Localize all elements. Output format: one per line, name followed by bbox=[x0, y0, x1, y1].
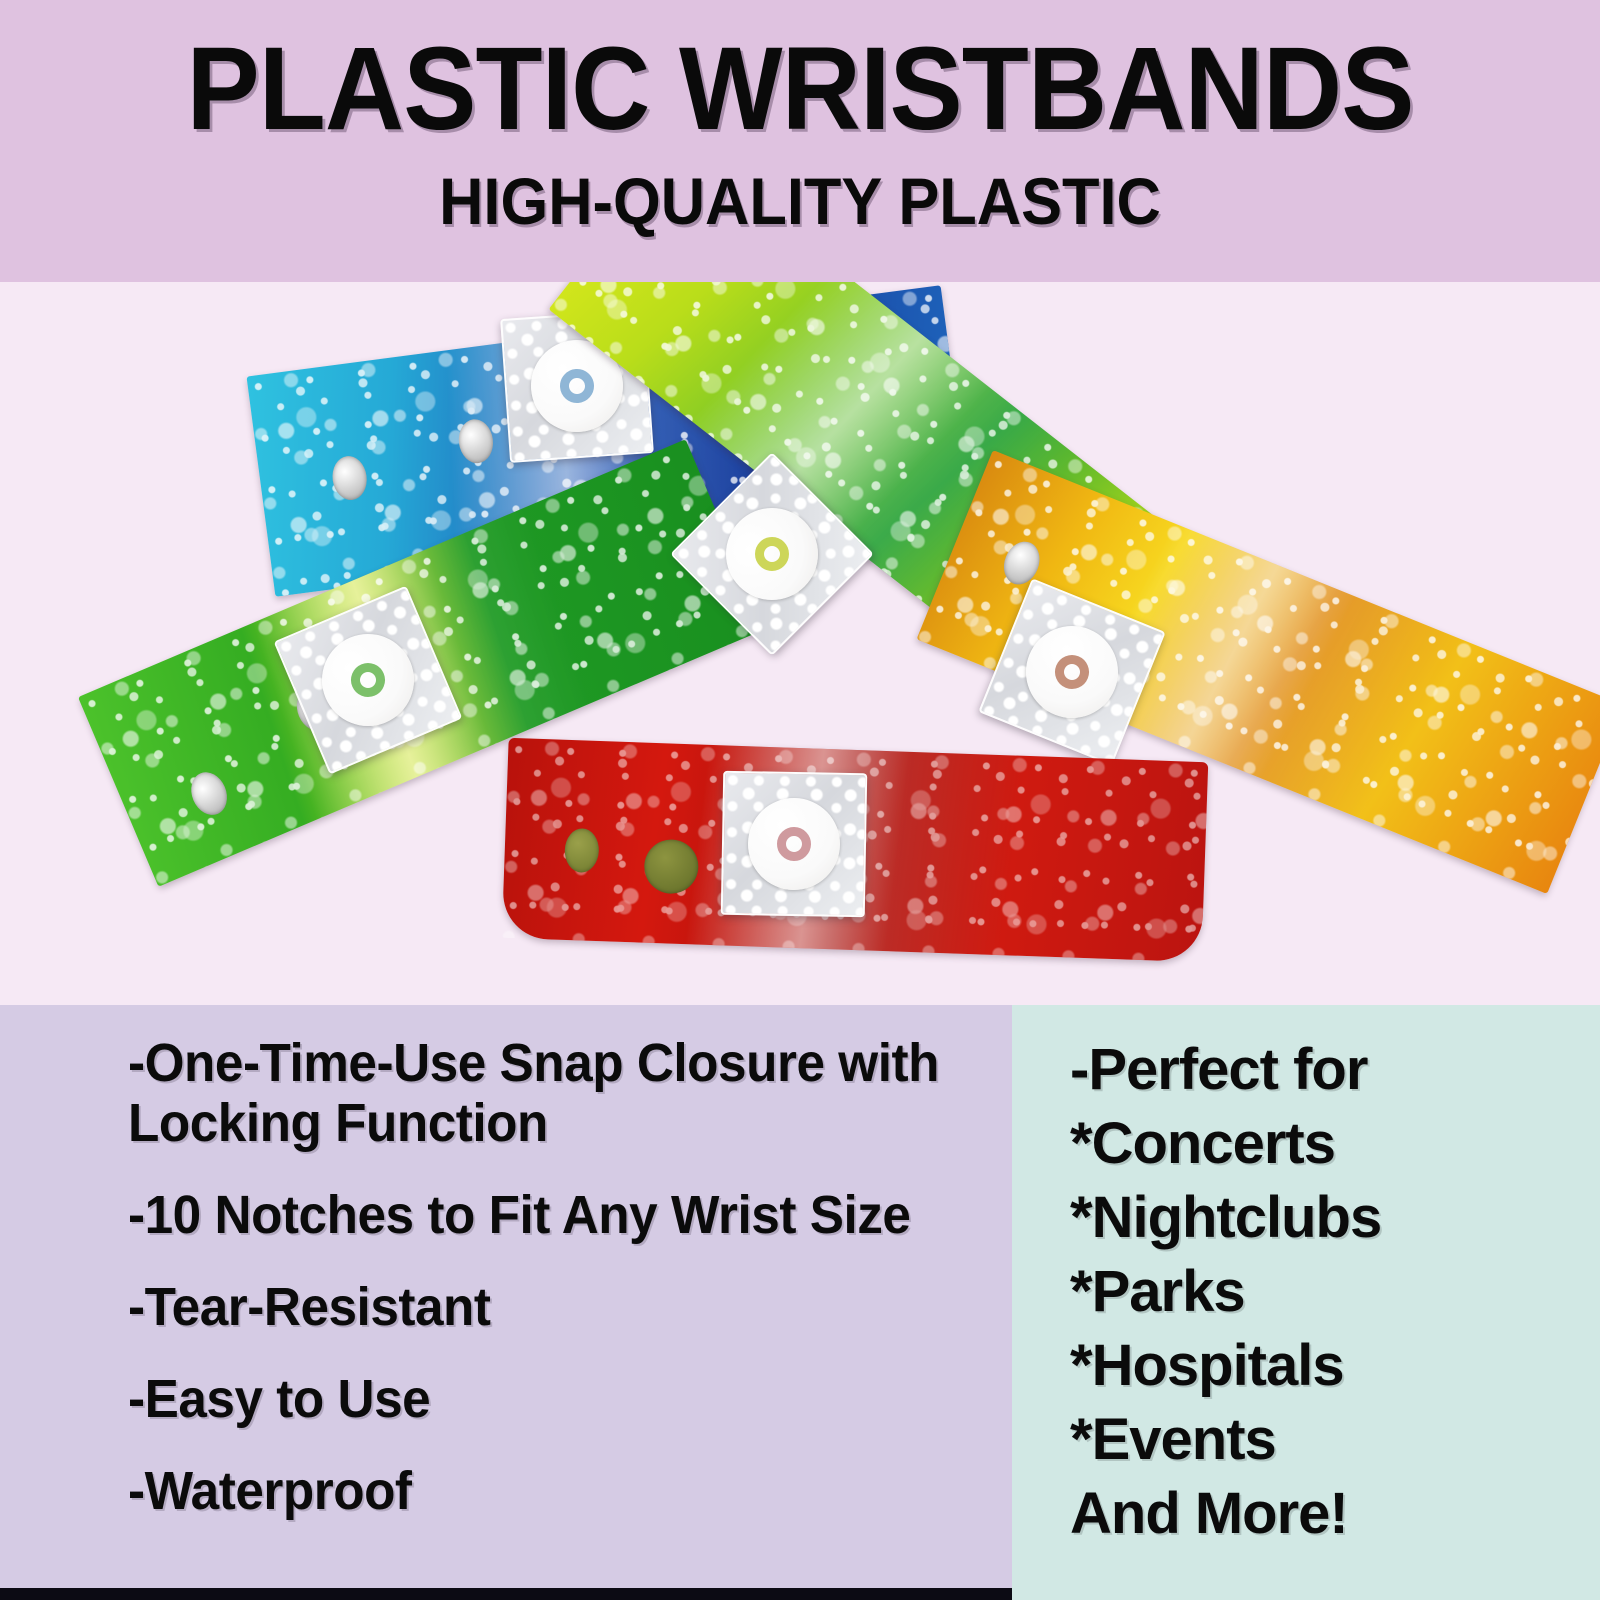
use-item: *Events bbox=[1070, 1403, 1590, 1477]
page-title: PLASTIC WRISTBANDS bbox=[56, 30, 1544, 148]
feature-item: -One-Time-Use Snap Closure with Locking … bbox=[128, 1033, 945, 1153]
use-item: And More! bbox=[1070, 1477, 1590, 1551]
panel-bottom-rule bbox=[0, 1588, 1012, 1600]
use-item: -Perfect for bbox=[1070, 1033, 1590, 1107]
use-item: *Hospitals bbox=[1070, 1329, 1590, 1403]
feature-item: -Waterproof bbox=[128, 1461, 945, 1521]
features-list: -One-Time-Use Snap Closure with Locking … bbox=[128, 1033, 988, 1521]
use-item: *Parks bbox=[1070, 1255, 1590, 1329]
feature-item: -10 Notches to Fit Any Wrist Size bbox=[128, 1185, 945, 1245]
product-photo bbox=[0, 282, 1600, 1005]
features-panel: -One-Time-Use Snap Closure with Locking … bbox=[0, 1005, 1012, 1588]
feature-item: -Tear-Resistant bbox=[128, 1277, 945, 1337]
feature-item: -Easy to Use bbox=[128, 1369, 945, 1429]
use-item: *Nightclubs bbox=[1070, 1181, 1590, 1255]
uses-list: -Perfect for *Concerts *Nightclubs *Park… bbox=[1070, 1033, 1590, 1551]
snap-closure-red bbox=[721, 771, 867, 917]
uses-panel: -Perfect for *Concerts *Nightclubs *Park… bbox=[1012, 1005, 1600, 1600]
product-infographic: PLASTIC WRISTBANDS HIGH-QUALITY PLASTIC bbox=[0, 0, 1600, 1600]
page-subtitle: HIGH-QUALITY PLASTIC bbox=[56, 168, 1544, 234]
use-item: *Concerts bbox=[1070, 1107, 1590, 1181]
header-banner: PLASTIC WRISTBANDS HIGH-QUALITY PLASTIC bbox=[0, 0, 1600, 282]
